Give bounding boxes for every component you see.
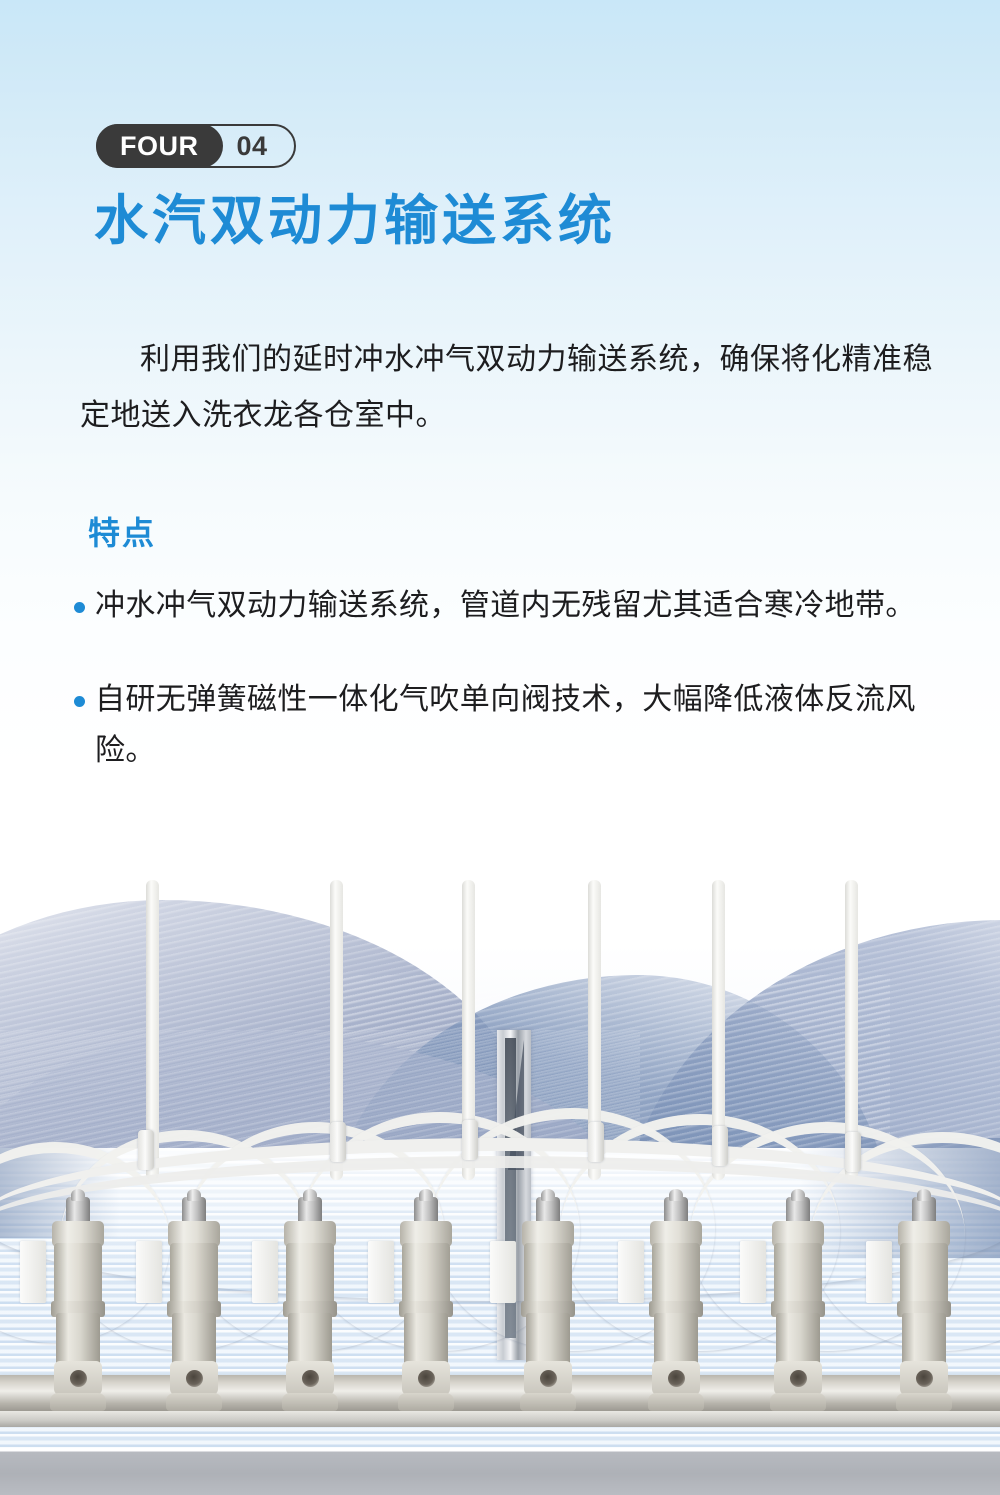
section-badge: FOUR 04 xyxy=(96,124,296,168)
cable-tie xyxy=(845,1132,861,1172)
valve-foot xyxy=(648,1393,704,1411)
valve-outlet-port xyxy=(774,1361,822,1395)
intro-paragraph: 利用我们的延时冲水冲气双动力输送系统，确保将化精准稳定地送入洗衣龙各仓室中。 xyxy=(80,332,944,443)
badge-outline: FOUR 04 xyxy=(96,124,296,168)
promo-page: FOUR 04 水汽双动力输送系统 利用我们的延时冲水冲气双动力输送系统，确保将… xyxy=(0,0,1000,1495)
valve-outlet-port xyxy=(54,1361,102,1395)
valve-body-upper xyxy=(54,1243,102,1305)
valve-outlet-port xyxy=(524,1361,572,1395)
valve-label-flag xyxy=(20,1241,46,1303)
features-heading: 特点 xyxy=(88,508,156,554)
base-plate xyxy=(0,1448,1000,1495)
valve-label-flag xyxy=(490,1241,516,1303)
feature-text: 冲水冲气双动力输送系统，管道内无残留尤其适合寒冷地带。 xyxy=(95,580,916,632)
valve-outlet-port xyxy=(652,1361,700,1395)
valve-foot xyxy=(770,1393,826,1411)
cable-tie xyxy=(138,1130,154,1170)
badge-number: 04 xyxy=(223,131,268,162)
valve-foot xyxy=(282,1393,338,1411)
badge-word: FOUR xyxy=(96,124,223,168)
valve-body-upper xyxy=(900,1243,948,1305)
page-title: 水汽双动力输送系统 xyxy=(94,190,616,252)
valve-label-flag xyxy=(866,1241,892,1303)
valve-body-upper xyxy=(524,1243,572,1305)
valve-label-flag xyxy=(618,1241,644,1303)
valve-outlet-port xyxy=(900,1361,948,1395)
valve-outlet-port xyxy=(170,1361,218,1395)
product-photo: 八联气吹单向阀输送管路实物图 xyxy=(0,880,1000,1495)
bullet-dot-icon xyxy=(74,602,85,613)
valve-foot xyxy=(166,1393,222,1411)
list-item: 自研无弹簧磁性一体化气吹单向阀技术，大幅降低液体反流风险。 xyxy=(74,674,954,777)
valve-foot xyxy=(896,1393,952,1411)
mounting-rail xyxy=(0,1411,1000,1427)
valve-body-upper xyxy=(170,1243,218,1305)
cable-tie xyxy=(462,1120,478,1160)
valve-label-flag xyxy=(136,1241,162,1303)
manifold-pipe xyxy=(0,1375,1000,1415)
cable-tie xyxy=(330,1122,346,1162)
list-item: 冲水冲气双动力输送系统，管道内无残留尤其适合寒冷地带。 xyxy=(74,580,954,632)
valve-label-flag xyxy=(252,1241,278,1303)
valve-foot xyxy=(520,1393,576,1411)
valve-foot xyxy=(50,1393,106,1411)
features-list: 冲水冲气双动力输送系统，管道内无残留尤其适合寒冷地带。 自研无弹簧磁性一体化气吹… xyxy=(74,580,954,819)
valve-body-upper xyxy=(774,1243,822,1305)
cable-tie xyxy=(588,1122,604,1162)
feature-text: 自研无弹簧磁性一体化气吹单向阀技术，大幅降低液体反流风险。 xyxy=(95,674,954,777)
cable-tie xyxy=(712,1126,728,1166)
valve-body-upper xyxy=(652,1243,700,1305)
valve-outlet-port xyxy=(286,1361,334,1395)
valve-body-upper xyxy=(286,1243,334,1305)
valve-outlet-port xyxy=(402,1361,450,1395)
valve-label-flag xyxy=(368,1241,394,1303)
valve-label-flag xyxy=(740,1241,766,1303)
valve-body-upper xyxy=(402,1243,450,1305)
bullet-dot-icon xyxy=(74,696,85,707)
valve-foot xyxy=(398,1393,454,1411)
